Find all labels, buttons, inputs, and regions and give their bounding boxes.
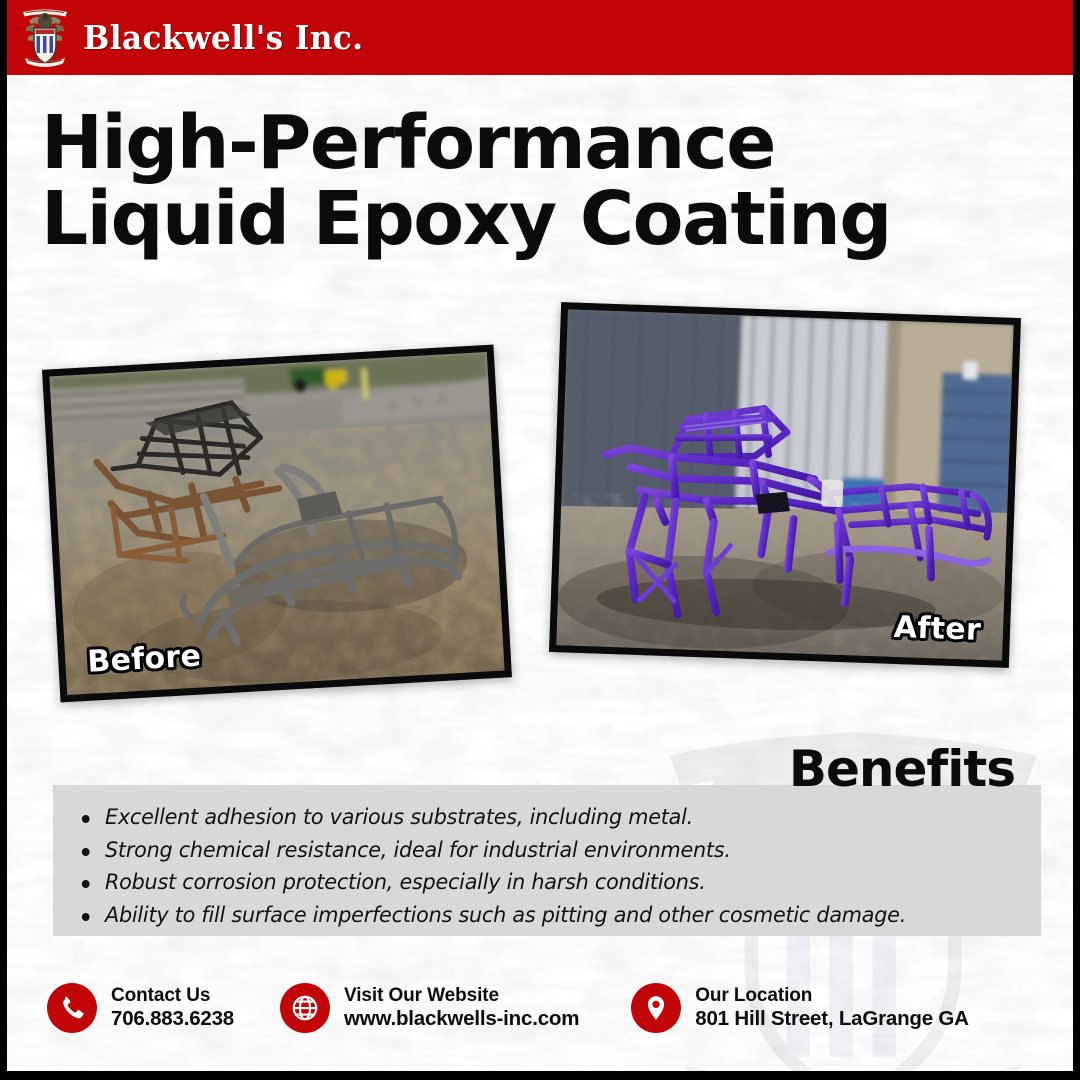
after-photo-illustration	[556, 309, 1013, 660]
contact-location-title: Our Location	[695, 985, 969, 1007]
footer-contact-bar: Contact Us 706.883.6238 Visit Our Websit…	[7, 954, 1080, 1062]
poster-canvas: Blackwell's Inc. High-Performance Liquid…	[0, 0, 1080, 1080]
heraldic-crest-icon	[19, 6, 71, 70]
page-title: High-Performance Liquid Epoxy Coating	[41, 108, 981, 255]
location-pin-icon	[631, 983, 681, 1033]
phone-icon	[47, 983, 97, 1033]
title-line-1: High-Performance	[41, 108, 981, 178]
contact-phone-value: 706.883.6238	[111, 1007, 234, 1031]
contact-location-value: 801 Hill Street, LaGrange GA	[695, 1007, 969, 1031]
contact-phone[interactable]: Contact Us 706.883.6238	[47, 983, 234, 1033]
before-photo: Before	[42, 345, 512, 703]
contact-location[interactable]: Our Location 801 Hill Street, LaGrange G…	[631, 983, 969, 1033]
benefit-item: Robust corrosion protection, especially …	[105, 867, 1008, 900]
contact-website-title: Visit Our Website	[344, 985, 579, 1007]
benefit-item: Ability to fill surface imperfections su…	[105, 900, 1008, 933]
after-label: After	[893, 610, 981, 648]
benefits-list: Excellent adhesion to various substrates…	[53, 792, 1041, 933]
benefits-heading: Benefits	[789, 744, 1015, 794]
benefit-item: Strong chemical resistance, ideal for in…	[105, 835, 1008, 868]
benefit-item: Excellent adhesion to various substrates…	[105, 802, 1008, 835]
contact-website-value: www.blackwells-inc.com	[344, 1007, 579, 1031]
before-label: Before	[86, 638, 202, 679]
after-photo-image	[556, 309, 1013, 660]
header-banner: Blackwell's Inc.	[7, 0, 1080, 75]
title-line-2: Liquid Epoxy Coating	[41, 184, 981, 254]
globe-icon	[280, 983, 330, 1033]
contact-phone-title: Contact Us	[111, 985, 234, 1007]
after-photo: After	[549, 302, 1021, 668]
brand-name: Blackwell's Inc.	[83, 18, 364, 57]
contact-website[interactable]: Visit Our Website www.blackwells-inc.com	[280, 983, 579, 1033]
